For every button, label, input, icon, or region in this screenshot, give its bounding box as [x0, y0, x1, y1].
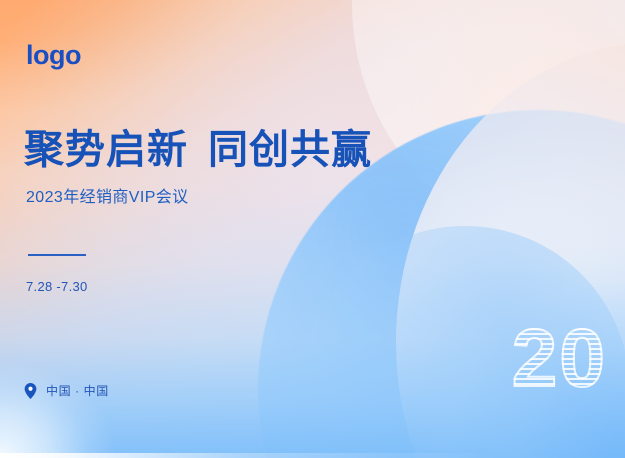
location-label: 中国 · 中国	[46, 385, 109, 397]
poster-subtitle: 2023年经销商VIP会议	[26, 188, 189, 207]
headline-part-1: 聚势启新	[24, 128, 188, 172]
headline-part-2: 同创共赢	[208, 128, 372, 172]
event-date-range: 7.28 -7.30	[26, 279, 88, 295]
poster-content: logo 聚势启新同创共赢 2023年经销商VIP会议 7.28 -7.30 中…	[0, 0, 625, 458]
poster-headline: 聚势启新同创共赢	[24, 128, 372, 173]
accent-divider	[28, 254, 86, 256]
location-pin-icon	[24, 383, 37, 399]
conference-poster: 20 logo 聚势启新同创共赢 2023年经销商VIP会议 7.28 -7.3…	[0, 0, 625, 458]
brand-logo: logo	[26, 42, 81, 69]
event-location: 中国 · 中国	[24, 383, 109, 399]
